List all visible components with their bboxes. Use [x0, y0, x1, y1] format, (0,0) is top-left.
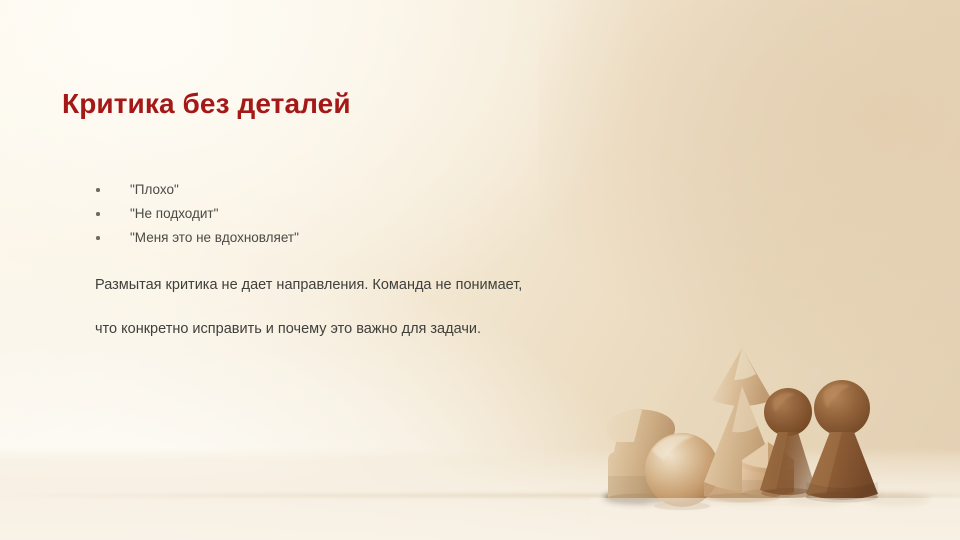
list-item: "Плохо" — [92, 178, 299, 202]
bullet-item-label: "Меня это не вдохновляет" — [130, 230, 299, 245]
background-warm-right — [538, 0, 960, 367]
wooden-toy-figures-photo — [590, 330, 960, 540]
bullet-dot-icon — [96, 236, 100, 240]
list-item: "Не подходит" — [92, 202, 299, 226]
slide-title: Критика без деталей — [62, 88, 351, 120]
bullet-list: "Плохо" "Не подходит" "Меня это не вдохн… — [92, 178, 299, 250]
bullet-item-label: "Не подходит" — [130, 206, 218, 221]
wooden-peg-doll-large — [806, 380, 878, 503]
slide: Критика без деталей "Плохо" "Не подходит… — [0, 0, 960, 540]
list-item: "Меня это не вдохновляет" — [92, 226, 299, 250]
bullet-dot-icon — [96, 212, 100, 216]
bullet-dot-icon — [96, 188, 100, 192]
body-paragraph-line-2: что конкретно исправить и почему это важ… — [95, 321, 481, 337]
body-paragraph-line-1: Размытая критика не дает направления. Ко… — [95, 277, 522, 293]
bullet-item-label: "Плохо" — [130, 182, 179, 197]
